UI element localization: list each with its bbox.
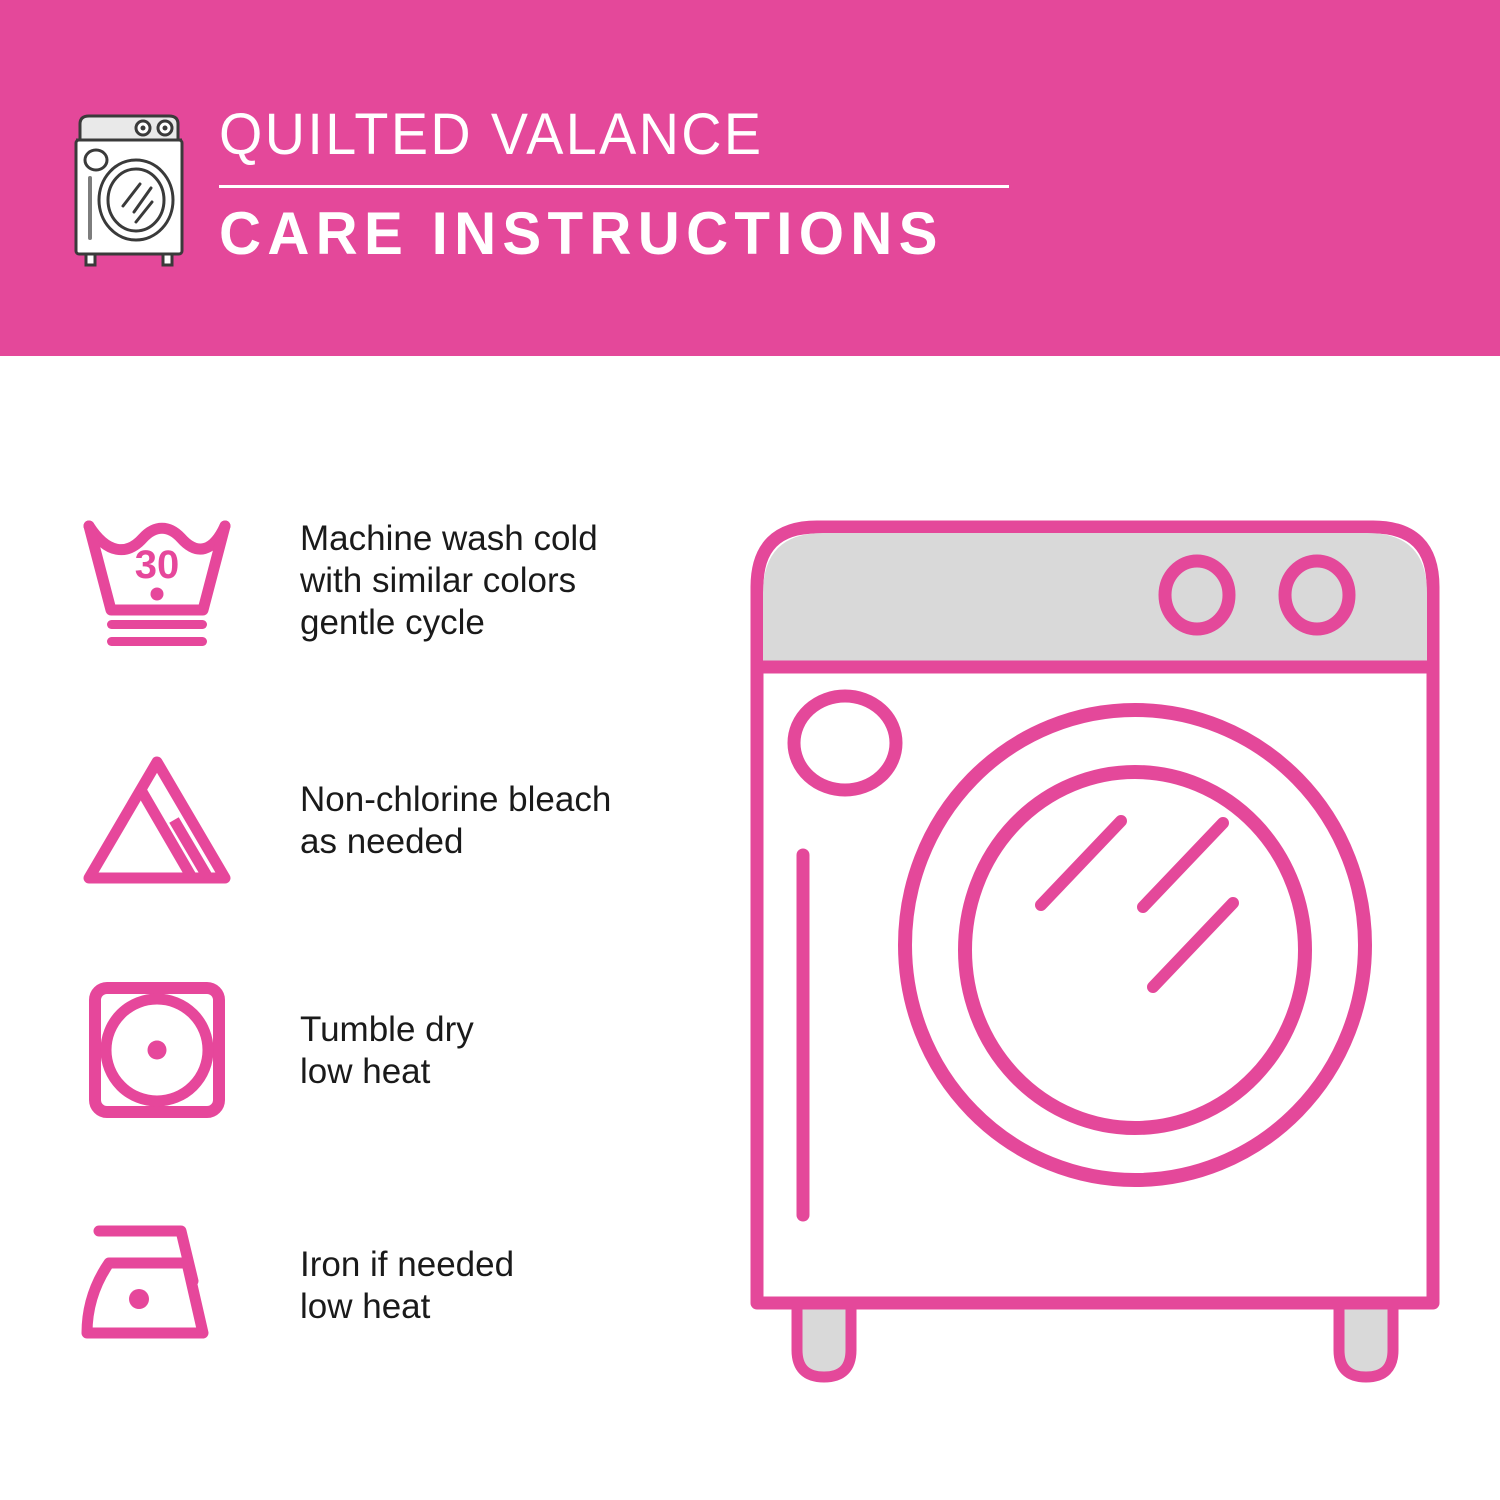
care-text-tumble-dry: Tumble dry low heat <box>300 1009 474 1093</box>
page-subtitle: CARE INSTRUCTIONS <box>219 202 1189 266</box>
tumble-dry-low-heat-symbol <box>72 976 242 1126</box>
care-text-machine-wash: Machine wash cold with similar colors ge… <box>300 518 598 644</box>
care-row-machine-wash: 30 Machine wash cold with similar colors… <box>0 506 700 656</box>
title-divider <box>219 185 1009 188</box>
non-chlorine-bleach-triangle-symbol <box>72 746 242 896</box>
wash-temperature-label: 30 <box>135 543 180 587</box>
washing-machine-icon <box>66 108 192 268</box>
care-instruction-list: 30 Machine wash cold with similar colors… <box>0 356 700 1500</box>
care-row-iron: Iron if needed low heat <box>0 1211 700 1361</box>
care-text-iron: Iron if needed low heat <box>300 1244 514 1328</box>
washing-machine-illustration <box>735 495 1455 1415</box>
care-text-bleach: Non-chlorine bleach as needed <box>300 779 611 863</box>
wash-tub-30-gentle-symbol: 30 <box>72 506 242 656</box>
iron-low-heat-symbol <box>72 1211 242 1361</box>
page-title: QUILTED VALANCE <box>219 104 1179 166</box>
care-row-tumble-dry: Tumble dry low heat <box>0 976 700 1126</box>
care-row-bleach: Non-chlorine bleach as needed <box>0 746 700 896</box>
machine-control-panel <box>763 533 1427 667</box>
header-title-block: QUILTED VALANCE CARE INSTRUCTIONS <box>219 104 1219 266</box>
header-banner: QUILTED VALANCE CARE INSTRUCTIONS <box>0 0 1500 356</box>
